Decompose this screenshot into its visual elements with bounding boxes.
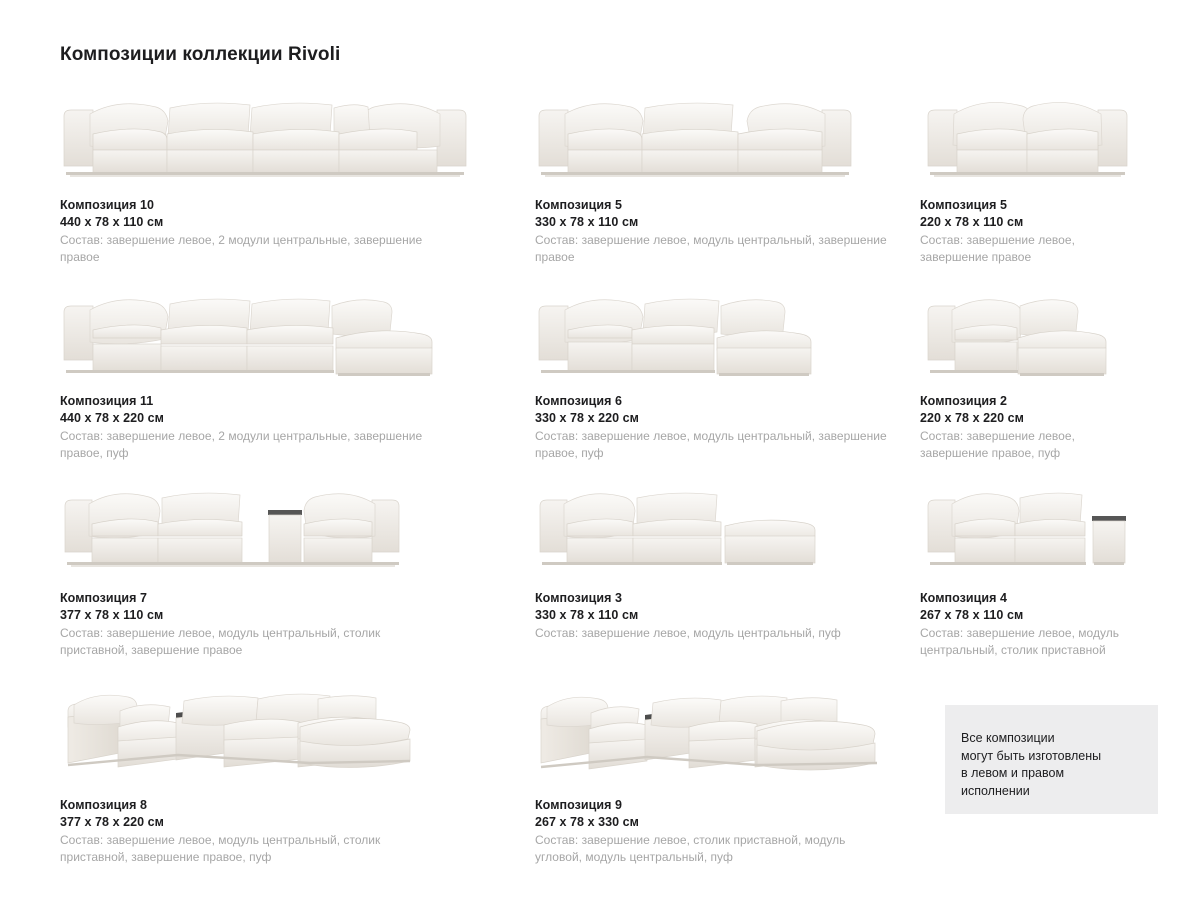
composition-card-10[interactable]: Композиция 9 267 x 78 x 330 см Состав: з…	[535, 679, 920, 859]
info-note-box: Все композиции могут быть изготовлены в …	[945, 705, 1158, 814]
composition-caption-6: Композиция 7 377 x 78 x 110 см Состав: з…	[60, 590, 535, 659]
composition-description: Состав: завершение левое, модуль централ…	[535, 428, 887, 462]
info-note-text: Все композиции могут быть изготовлены в …	[961, 730, 1101, 800]
sofa-image-2	[920, 86, 1145, 181]
composition-caption-4: Композиция 6 330 x 78 x 220 см Состав: з…	[535, 393, 920, 462]
composition-name: Композиция 3	[535, 590, 906, 607]
composition-card-2[interactable]: Композиция 5 220 x 78 x 110 см Состав: з…	[920, 86, 1145, 284]
composition-row: Композиция 11 440 x 78 x 220 см Состав: …	[60, 284, 1145, 478]
composition-dimensions: 440 x 78 x 110 см	[60, 214, 521, 231]
sofa-image-3	[60, 284, 535, 379]
composition-card-5[interactable]: Композиция 2 220 x 78 x 220 см Состав: з…	[920, 284, 1145, 478]
composition-caption-7: Композиция 3 330 x 78 x 110 см Состав: з…	[535, 590, 920, 642]
sofa-image-4	[535, 284, 920, 379]
composition-caption-10: Композиция 9 267 x 78 x 330 см Состав: з…	[535, 797, 920, 866]
composition-dimensions: 267 x 78 x 110 см	[920, 607, 1131, 624]
composition-description: Состав: завершение левое, 2 модули центр…	[60, 232, 440, 266]
composition-name: Композиция 10	[60, 197, 521, 214]
composition-card-7[interactable]: Композиция 3 330 x 78 x 110 см Состав: з…	[535, 478, 920, 679]
composition-description: Состав: завершение левое, модуль централ…	[920, 625, 1131, 659]
composition-caption-0: Композиция 10 440 x 78 x 110 см Состав: …	[60, 197, 535, 266]
composition-description: Состав: завершение левое, 2 модули центр…	[60, 428, 440, 462]
composition-description: Состав: завершение левое, модуль централ…	[535, 232, 887, 266]
composition-description: Состав: завершение левое, модуль централ…	[60, 625, 440, 659]
composition-dimensions: 377 x 78 x 220 см	[60, 814, 521, 831]
catalog-page: Композиции коллекции Rivoli	[0, 0, 1200, 900]
composition-description: Состав: завершение левое, столик пристав…	[535, 832, 887, 866]
composition-card-8[interactable]: Композиция 4 267 x 78 x 110 см Состав: з…	[920, 478, 1145, 679]
composition-dimensions: 220 x 78 x 220 см	[920, 410, 1131, 427]
composition-dimensions: 330 x 78 x 110 см	[535, 607, 906, 624]
composition-dimensions: 267 x 78 x 330 см	[535, 814, 906, 831]
page-title: Композиции коллекции Rivoli	[60, 44, 340, 66]
composition-name: Композиция 11	[60, 393, 521, 410]
composition-name: Композиция 5	[920, 197, 1131, 214]
sofa-image-10	[535, 679, 920, 779]
composition-dimensions: 377 x 78 x 110 см	[60, 607, 521, 624]
composition-description: Состав: завершение левое, модуль централ…	[535, 625, 895, 642]
composition-caption-9: Композиция 8 377 x 78 x 220 см Состав: з…	[60, 797, 535, 866]
sofa-image-1	[535, 86, 920, 181]
composition-caption-2: Композиция 5 220 x 78 x 110 см Состав: з…	[920, 197, 1145, 266]
composition-dimensions: 440 x 78 x 220 см	[60, 410, 521, 427]
composition-dimensions: 330 x 78 x 220 см	[535, 410, 906, 427]
composition-description: Состав: завершение левое, завершение пра…	[920, 232, 1131, 266]
composition-name: Композиция 6	[535, 393, 906, 410]
composition-card-0[interactable]: Композиция 10 440 x 78 x 110 см Состав: …	[60, 86, 535, 284]
composition-name: Композиция 5	[535, 197, 906, 214]
composition-card-3[interactable]: Композиция 11 440 x 78 x 220 см Состав: …	[60, 284, 535, 478]
composition-card-6[interactable]: Композиция 7 377 x 78 x 110 см Состав: з…	[60, 478, 535, 679]
composition-description: Состав: завершение левое, завершение пра…	[920, 428, 1131, 462]
sofa-image-6	[60, 478, 535, 570]
composition-card-4[interactable]: Композиция 6 330 x 78 x 220 см Состав: з…	[535, 284, 920, 478]
composition-name: Композиция 4	[920, 590, 1131, 607]
composition-row: Композиция 7 377 x 78 x 110 см Состав: з…	[60, 478, 1145, 679]
composition-description: Состав: завершение левое, модуль централ…	[60, 832, 440, 866]
composition-name: Композиция 9	[535, 797, 906, 814]
sofa-image-8	[920, 478, 1145, 570]
sofa-image-9	[60, 679, 535, 779]
sofa-image-7	[535, 478, 920, 570]
composition-name: Композиция 2	[920, 393, 1131, 410]
composition-caption-5: Композиция 2 220 x 78 x 220 см Состав: з…	[920, 393, 1145, 462]
composition-dimensions: 220 x 78 x 110 см	[920, 214, 1131, 231]
composition-caption-8: Композиция 4 267 x 78 x 110 см Состав: з…	[920, 590, 1145, 659]
composition-dimensions: 330 x 78 x 110 см	[535, 214, 906, 231]
composition-card-9[interactable]: Композиция 8 377 x 78 x 220 см Состав: з…	[60, 679, 535, 859]
composition-row: Композиция 10 440 x 78 x 110 см Состав: …	[60, 86, 1145, 284]
composition-caption-3: Композиция 11 440 x 78 x 220 см Состав: …	[60, 393, 535, 462]
sofa-image-0	[60, 86, 535, 181]
sofa-image-5	[920, 284, 1145, 379]
composition-caption-1: Композиция 5 330 x 78 x 110 см Состав: з…	[535, 197, 920, 266]
composition-card-1[interactable]: Композиция 5 330 x 78 x 110 см Состав: з…	[535, 86, 920, 284]
composition-name: Композиция 7	[60, 590, 521, 607]
composition-name: Композиция 8	[60, 797, 521, 814]
